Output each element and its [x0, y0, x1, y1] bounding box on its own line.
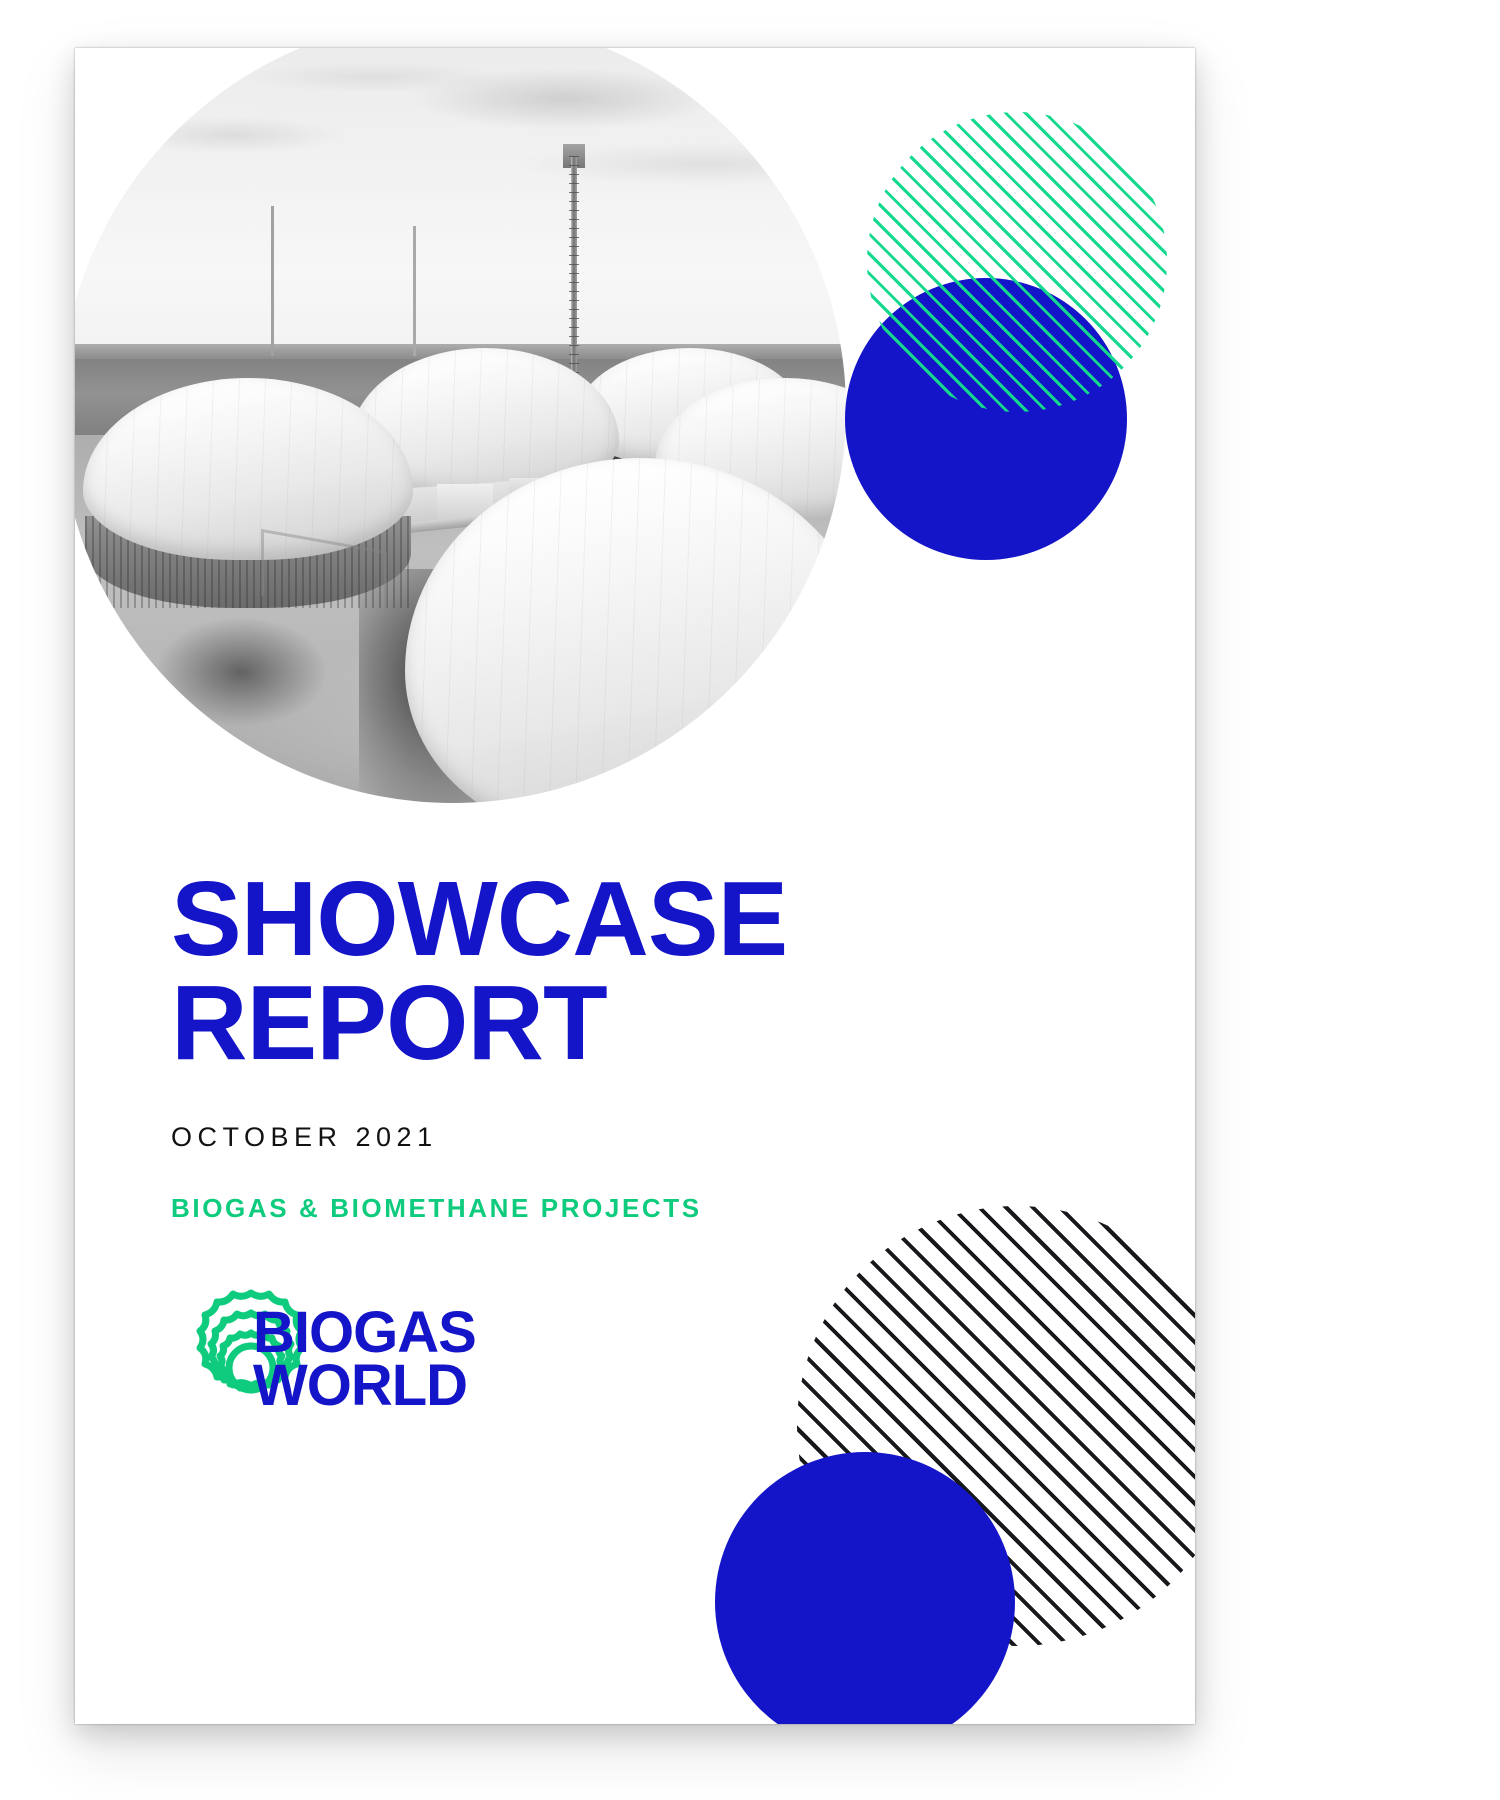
title-line-1: SHOWCASE: [171, 860, 787, 978]
title-line-2: REPORT: [171, 972, 971, 1076]
biogas-plant-aerial-photo: [75, 48, 865, 838]
cover-subtitle: BIOGAS & BIOMETHANE PROJECTS: [171, 1193, 971, 1224]
biogas-world-wordmark: BIOGAS WORLD: [253, 1306, 476, 1413]
logo-line-2: WORLD: [253, 1359, 476, 1412]
photo-pole: [271, 206, 274, 356]
top-right-green-hatched-circle: [867, 112, 1167, 412]
screenshot-stage: SHOWCASE REPORT OCTOBER 2021 BIOGAS & BI…: [0, 0, 1500, 1800]
cover-date: OCTOBER 2021: [171, 1122, 971, 1153]
page-title: SHOWCASE REPORT: [171, 868, 971, 1076]
report-cover-page: SHOWCASE REPORT OCTOBER 2021 BIOGAS & BI…: [75, 48, 1195, 1724]
biogas-world-logo: BIOGAS WORLD: [171, 1286, 601, 1456]
photo-canvas: [75, 48, 865, 838]
photo-pole: [413, 226, 416, 356]
photo-dark-patch: [154, 617, 328, 728]
cover-text-block: SHOWCASE REPORT OCTOBER 2021 BIOGAS & BI…: [171, 868, 971, 1224]
